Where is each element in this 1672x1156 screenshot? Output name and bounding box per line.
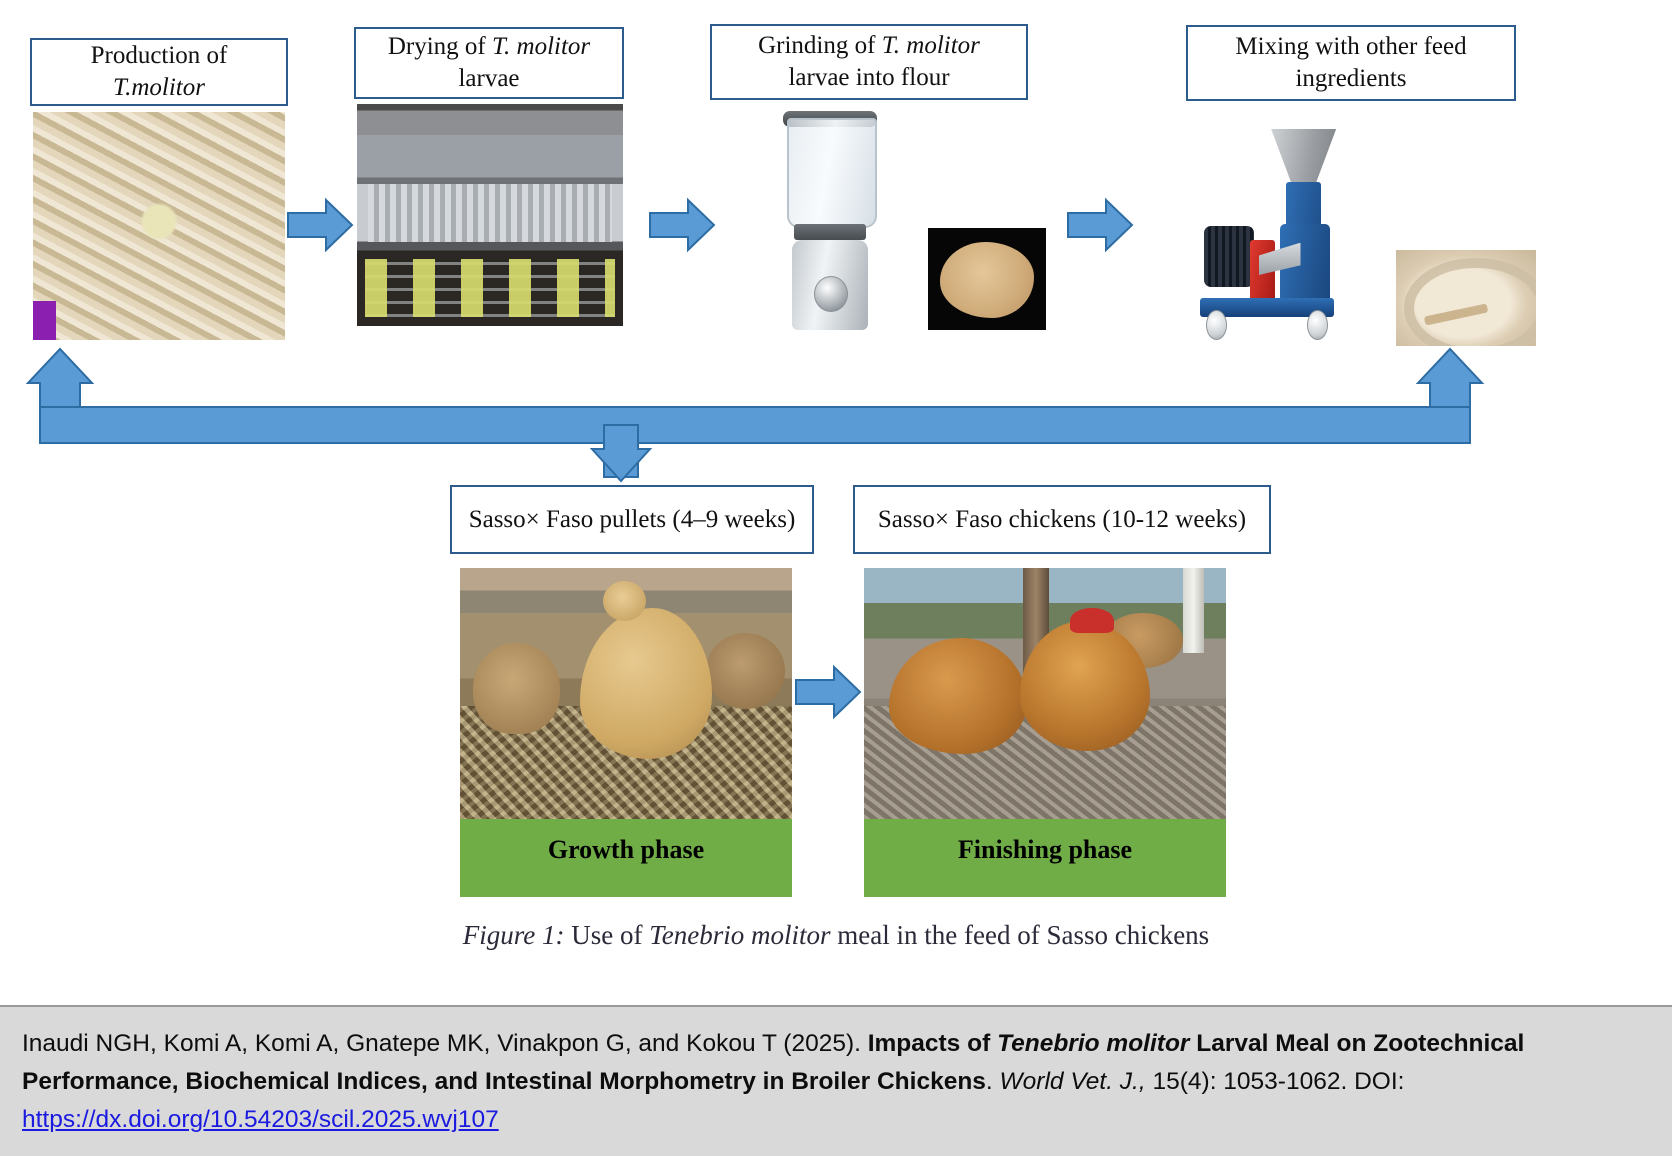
fence-post-shape xyxy=(1183,568,1205,653)
feed-distribution-connector xyxy=(26,345,1506,475)
pullet-head-shape xyxy=(603,581,646,621)
mill-wheel-shape xyxy=(1206,310,1227,340)
pullet-background-bird-shape xyxy=(473,643,559,733)
stage-box-pullets-label: Sasso× Faso pullets (4–9 weeks) xyxy=(469,506,796,534)
process-box-drying: Drying of T. molitor larvae xyxy=(354,27,624,99)
pullet-foreground-bird-shape xyxy=(580,608,713,759)
figure-caption-before: Use of xyxy=(565,920,650,950)
process-box-grinding: Grinding of T. molitor larvae into flour xyxy=(710,24,1028,100)
stage-box-chickens: Sasso× Faso chickens (10-12 weeks) xyxy=(853,485,1271,554)
arrow-pullets-to-chickens xyxy=(796,665,862,719)
arrow-drying-to-grinding xyxy=(650,198,716,252)
citation-title-species: Tenebrio molitor xyxy=(997,1030,1189,1057)
foreground-hen-shape xyxy=(889,638,1027,753)
citation-title-before: Impacts of xyxy=(868,1030,997,1057)
image-larvae-production xyxy=(33,112,285,340)
image-blender xyxy=(740,104,920,330)
stage-box-chickens-label: Sasso× Faso chickens (10-12 weeks) xyxy=(878,506,1246,534)
phase-label-finishing-text: Finishing phase xyxy=(958,835,1132,865)
process-box-production: Production of T.molitor xyxy=(30,38,288,106)
mill-wheel-shape xyxy=(1307,310,1328,340)
process-box-mixing: Mixing with other feed ingredients xyxy=(1186,25,1516,101)
citation-title-period: . xyxy=(986,1068,1000,1095)
citation-authors: Inaudi NGH, Komi A, Komi A, Gnatepe MK, … xyxy=(22,1030,868,1057)
image-pullets xyxy=(460,568,792,819)
figure-caption-lead: Figure 1: xyxy=(463,920,565,950)
image-feed-flour xyxy=(1396,250,1536,346)
phase-label-growth-text: Growth phase xyxy=(548,835,704,865)
figure-caption: Figure 1: Use of Tenebrio molitor meal i… xyxy=(0,920,1672,951)
stage-box-pullets: Sasso× Faso pullets (4–9 weeks) xyxy=(450,485,814,554)
process-box-mixing-label: Mixing with other feed ingredients xyxy=(1235,31,1466,95)
pullet-background-bird-shape xyxy=(706,633,786,708)
phase-label-finishing: Finishing phase xyxy=(864,819,1226,897)
figure-caption-after: meal in the feed of Sasso chickens xyxy=(831,920,1210,950)
arrow-production-to-drying xyxy=(288,198,354,252)
figure-canvas: Production of T.molitor Drying of T. mol… xyxy=(0,0,1672,1005)
arrow-grinding-to-mixing xyxy=(1068,198,1134,252)
process-box-production-label: Production of T.molitor xyxy=(91,40,228,104)
figure-caption-species: Tenebrio molitor xyxy=(649,920,830,950)
process-box-grinding-label: Grinding of T. molitor larvae into flour xyxy=(758,30,980,94)
mill-motor-shape xyxy=(1204,226,1254,286)
citation-bar: Inaudi NGH, Komi A, Komi A, Gnatepe MK, … xyxy=(0,1005,1672,1156)
citation-journal: World Vet. J., xyxy=(1000,1068,1146,1095)
blender-collar-shape xyxy=(794,224,866,240)
image-drying-oven xyxy=(357,104,623,326)
image-pellet-mill xyxy=(1164,115,1374,347)
citation-volume-pages: 15(4): 1053-1062. DOI: xyxy=(1146,1068,1405,1095)
image-chickens xyxy=(864,568,1226,819)
blender-knob-shape xyxy=(814,276,848,312)
process-box-drying-label: Drying of T. molitor larvae xyxy=(388,31,590,95)
citation-doi-link[interactable]: https://dx.doi.org/10.54203/scil.2025.wv… xyxy=(22,1106,499,1133)
arrow-feed-to-pullets xyxy=(584,425,654,483)
phase-label-growth: Growth phase xyxy=(460,819,792,897)
mill-hopper-shape xyxy=(1271,129,1336,185)
blender-jar-shape xyxy=(787,118,877,228)
rooster-comb-shape xyxy=(1070,608,1113,633)
image-larvae-flour xyxy=(928,228,1046,330)
